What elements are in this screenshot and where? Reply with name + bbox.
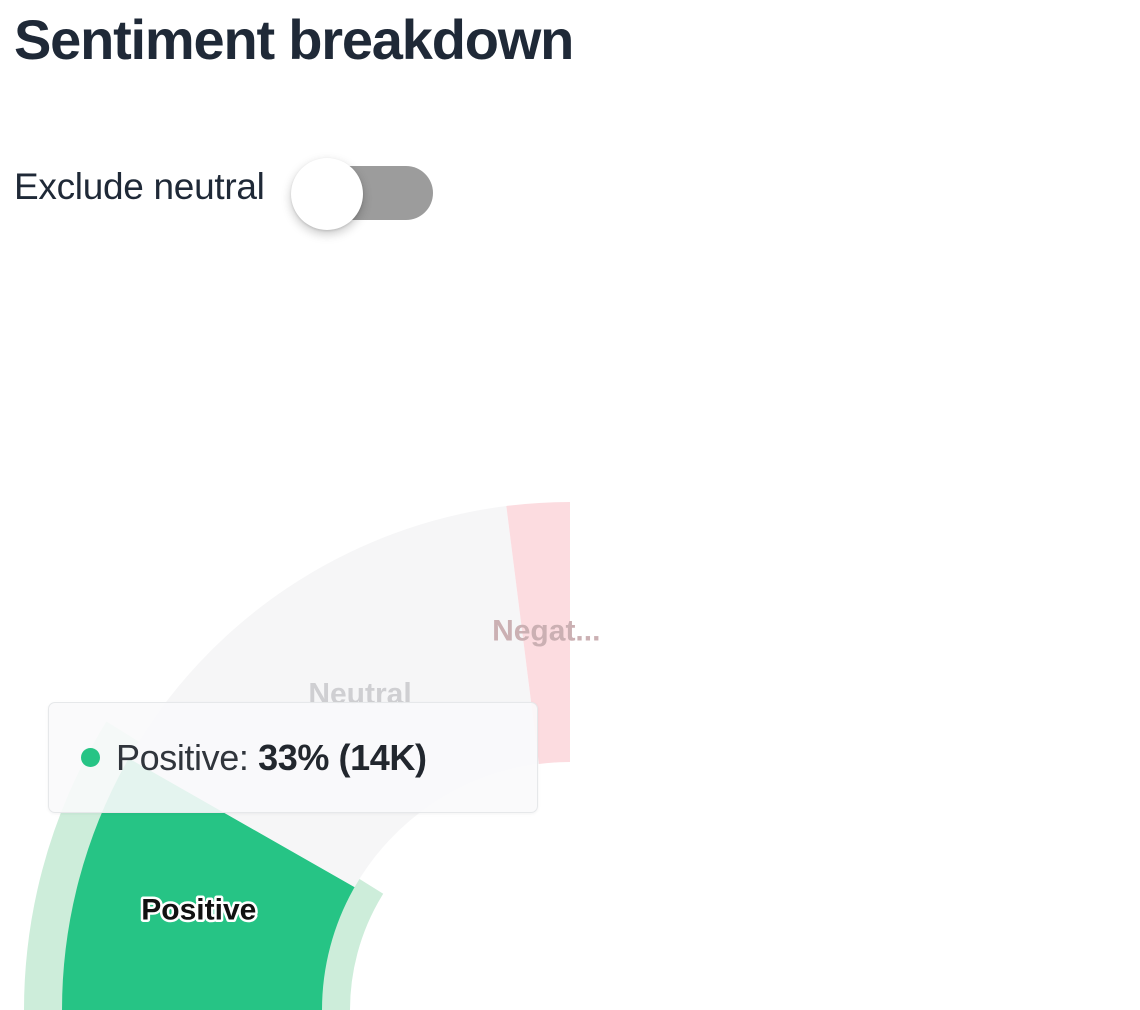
tooltip-text: Positive: 33% (14K) [116, 737, 427, 779]
gauge-svg: PositiveNeutralNegat... [0, 0, 1140, 1010]
tooltip-value: 33% (14K) [258, 737, 426, 778]
sentiment-breakdown-panel: Sentiment breakdown Exclude neutral Posi… [0, 0, 1140, 1010]
toggle-knob[interactable] [291, 158, 363, 230]
exclude-neutral-toggle[interactable] [291, 158, 433, 214]
tooltip-series-dot [81, 748, 100, 767]
sentiment-gauge: PositiveNeutralNegat... [0, 0, 1140, 1010]
page-title: Sentiment breakdown [14, 8, 573, 72]
chart-tooltip: Positive: 33% (14K) [48, 702, 538, 813]
tooltip-series-label: Positive: [116, 737, 248, 778]
exclude-neutral-control: Exclude neutral [14, 158, 433, 214]
exclude-neutral-label: Exclude neutral [14, 168, 265, 205]
